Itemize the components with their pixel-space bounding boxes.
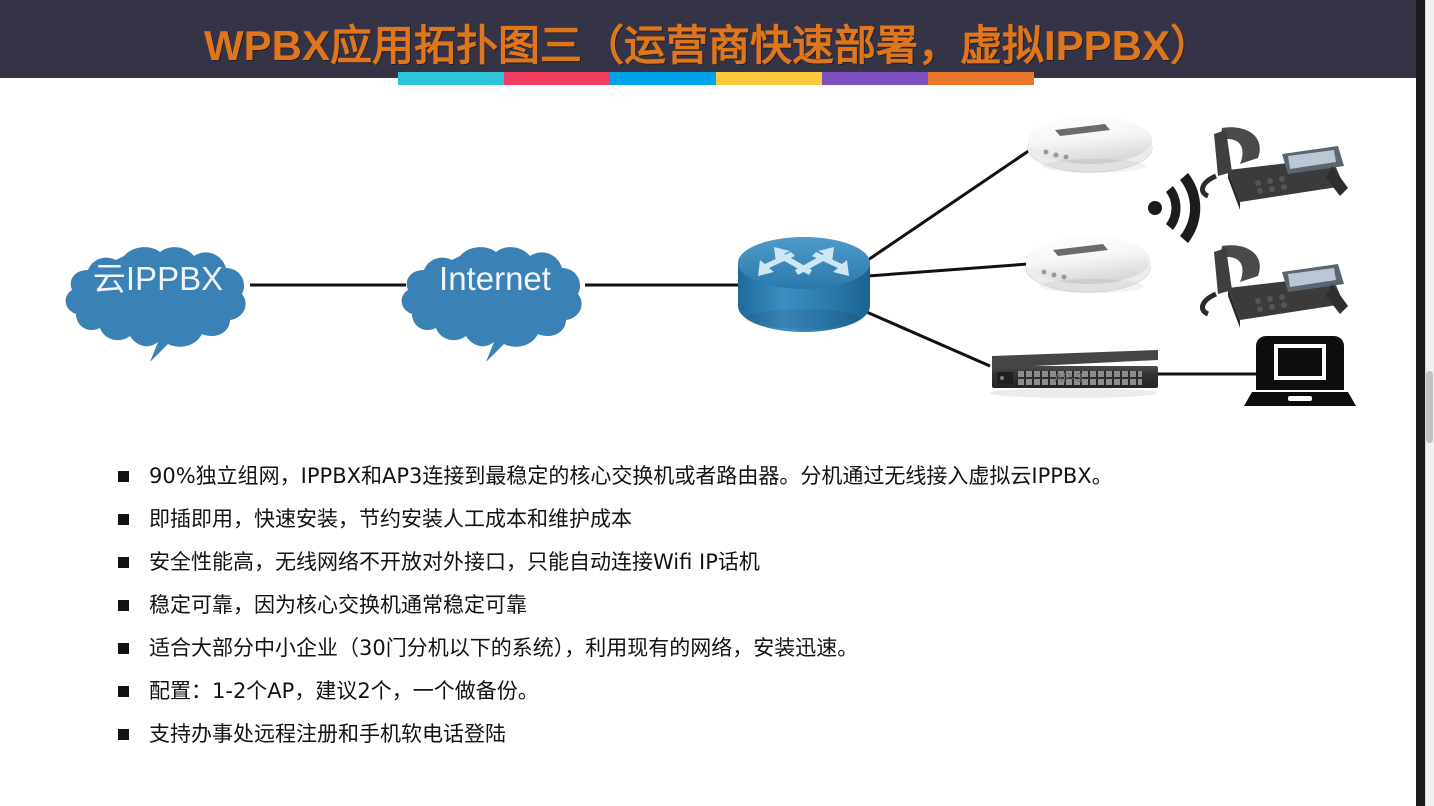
bullet-square-icon [118, 600, 129, 611]
network-topology-diagram: 云IPPBX Internet [0, 78, 1416, 450]
list-item: 90%独立组网，IPPBX和AP3连接到最稳定的核心交换机或者路由器。分机通过无… [0, 462, 1416, 505]
laptop [1244, 336, 1356, 406]
list-item: 稳定可靠，因为核心交换机通常稳定可靠 [0, 591, 1416, 634]
list-item: 即插即用，快速安装，节约安装人工成本和维护成本 [0, 505, 1416, 548]
access-point-1 [1028, 116, 1152, 173]
router-node [738, 237, 870, 332]
list-item: 安全性能高，无线网络不开放对外接口，只能自动连接Wifi IP话机 [0, 548, 1416, 591]
bullet-square-icon [118, 557, 129, 568]
list-item: 支持办事处远程注册和手机软电话登陆 [0, 720, 1416, 763]
ip-phone-1 [1202, 127, 1348, 210]
list-item-text: 安全性能高，无线网络不开放对外接口，只能自动连接Wifi IP话机 [149, 548, 760, 576]
cloud-ippbx-label: 云IPPBX [93, 260, 223, 297]
ip-phone-2 [1202, 245, 1348, 328]
list-item-text: 适合大部分中小企业（30门分机以下的系统），利用现有的网络，安装迅速。 [149, 634, 858, 662]
wifi-signal-icon [1148, 173, 1200, 243]
vertical-scrollbar[interactable] [1425, 0, 1434, 806]
bullet-square-icon [118, 514, 129, 525]
cloud-internet-label: Internet [439, 260, 551, 297]
cloud-internet-node: Internet [402, 247, 582, 362]
slide-header: WPBX应用拓扑图三（运营商快速部署，虚拟IPPBX） [0, 0, 1416, 78]
list-item-text: 即插即用，快速安装，节约安装人工成本和维护成本 [149, 505, 632, 533]
page-title: WPBX应用拓扑图三（运营商快速部署，虚拟IPPBX） [0, 12, 1416, 73]
slide-canvas: WPBX应用拓扑图三（运营商快速部署，虚拟IPPBX） [0, 0, 1434, 806]
access-point-2-label: AP-3 [1054, 370, 1083, 385]
list-item-text: 支持办事处远程注册和手机软电话登陆 [149, 720, 506, 748]
cloud-ippbx-node: 云IPPBX [66, 247, 246, 362]
scrollbar-thumb[interactable] [1426, 371, 1433, 443]
bullet-square-icon [118, 686, 129, 697]
access-point-2 [1026, 236, 1150, 293]
list-item-text: 90%独立组网，IPPBX和AP3连接到最稳定的核心交换机或者路由器。分机通过无… [149, 462, 1113, 490]
list-item: 配置：1-2个AP，建议2个，一个做备份。 [0, 677, 1416, 720]
bullet-square-icon [118, 471, 129, 482]
list-item-text: 稳定可靠，因为核心交换机通常稳定可靠 [149, 591, 527, 619]
bullet-square-icon [118, 729, 129, 740]
list-item: 适合大部分中小企业（30门分机以下的系统），利用现有的网络，安装迅速。 [0, 634, 1416, 677]
list-item-text: 配置：1-2个AP，建议2个，一个做备份。 [149, 677, 539, 705]
bullet-list: 90%独立组网，IPPBX和AP3连接到最稳定的核心交换机或者路由器。分机通过无… [0, 462, 1416, 763]
bullet-square-icon [118, 643, 129, 654]
